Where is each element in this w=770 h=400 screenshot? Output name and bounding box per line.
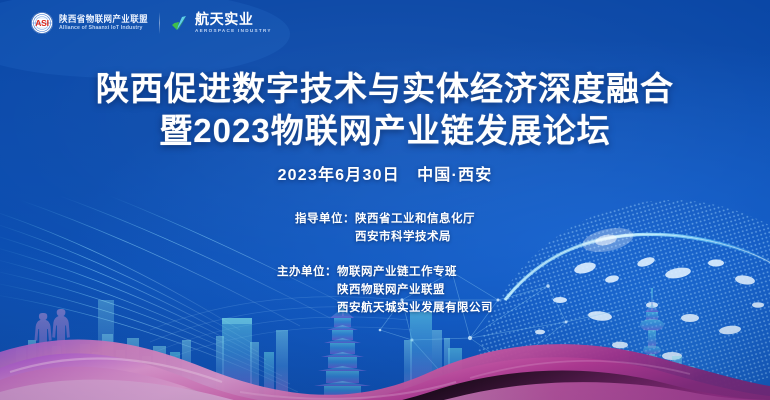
credit-block-organizers: 主办单位： 物联网产业链工作专班 陕西物联网产业联盟 西安航天城实业发展有限公司 bbox=[277, 263, 493, 317]
credits-section: 指导单位： 陕西省工业和信息化厅 西安市科学技术局 主办单位： 物联网产业链工作… bbox=[0, 210, 770, 317]
credit-values: 陕西省工业和信息化厅 西安市科学技术局 bbox=[355, 210, 475, 246]
aerospace-logo: 航天实业 AEROSPACE INDUSTRY bbox=[171, 12, 272, 34]
asi-logo-text: 陕西省物联网产业联盟 Alliance of Shaanxi IoT Indus… bbox=[59, 15, 148, 31]
aerospace-logo-cn: 航天实业 bbox=[195, 12, 272, 26]
aerospace-swoosh-icon bbox=[171, 15, 189, 32]
svg-text:ASI: ASI bbox=[35, 18, 48, 28]
logo-divider bbox=[159, 12, 160, 34]
event-poster: ASI 陕西省物联网产业联盟 Alliance of Shaanxi IoT I… bbox=[0, 0, 770, 400]
credit-block-guidance: 指导单位： 陕西省工业和信息化厅 西安市科学技术局 bbox=[295, 210, 475, 246]
decorative-graphics-layer bbox=[0, 0, 770, 400]
credit-value: 陕西物联网产业联盟 bbox=[337, 281, 493, 299]
credit-label: 指导单位： bbox=[295, 210, 355, 228]
credit-values: 物联网产业链工作专班 陕西物联网产业联盟 西安航天城实业发展有限公司 bbox=[337, 263, 493, 317]
credit-value: 陕西省工业和信息化厅 bbox=[355, 210, 475, 228]
asi-circular-emblem-icon: ASI bbox=[30, 11, 54, 35]
credit-value: 西安航天城实业发展有限公司 bbox=[337, 299, 493, 317]
date-location-line: 2023年6月30日 中国·西安 bbox=[0, 161, 770, 185]
title-line-2: 暨2023物联网产业链发展论坛 bbox=[0, 112, 770, 150]
credit-label: 主办单位： bbox=[277, 263, 337, 281]
credit-value: 物联网产业链工作专班 bbox=[337, 263, 493, 281]
aerospace-logo-en: AEROSPACE INDUSTRY bbox=[195, 29, 272, 34]
asi-logo-en: Alliance of Shaanxi IoT Industry bbox=[59, 26, 148, 31]
aerospace-logo-text: 航天实业 AEROSPACE INDUSTRY bbox=[195, 12, 272, 34]
poster-title: 陕西促进数字技术与实体经济深度融合 暨2023物联网产业链发展论坛 bbox=[0, 70, 770, 149]
logo-bar: ASI 陕西省物联网产业联盟 Alliance of Shaanxi IoT I… bbox=[30, 11, 272, 35]
asi-logo-cn: 陕西省物联网产业联盟 bbox=[59, 15, 148, 24]
credit-value: 西安市科学技术局 bbox=[355, 228, 475, 246]
title-line-1: 陕西促进数字技术与实体经济深度融合 bbox=[0, 70, 770, 108]
asi-logo: ASI 陕西省物联网产业联盟 Alliance of Shaanxi IoT I… bbox=[30, 11, 148, 35]
